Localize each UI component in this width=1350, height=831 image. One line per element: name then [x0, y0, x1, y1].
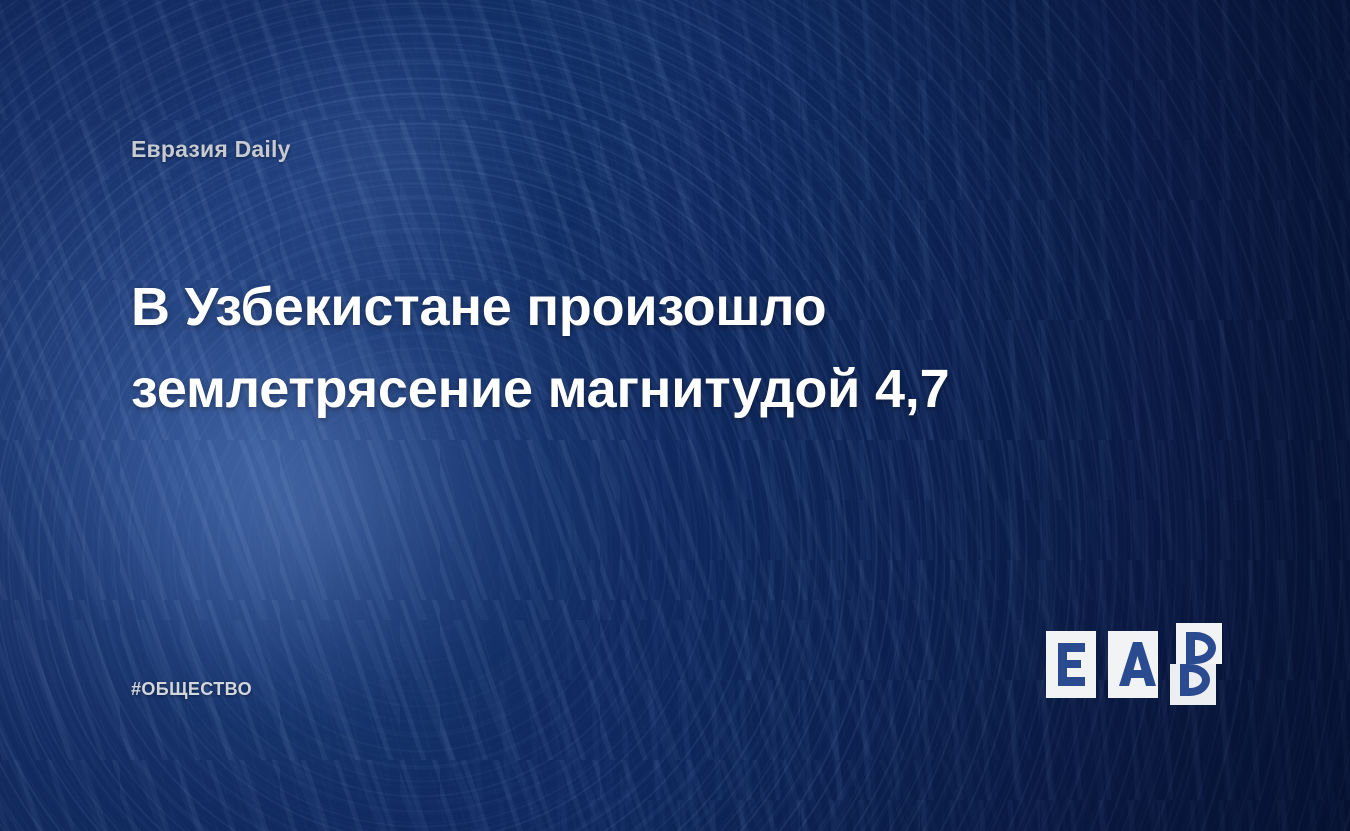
headline: В Узбекистане произошло землетрясение ма…	[131, 266, 1031, 430]
category-tag[interactable]: #ОБЩЕСТВО	[131, 679, 252, 700]
ead-logo-svg	[1046, 623, 1222, 705]
news-social-card: Евразия Daily В Узбекистане произошло зе…	[0, 0, 1350, 831]
card-content: Евразия Daily В Узбекистане произошло зе…	[0, 0, 1350, 831]
brand-wordmark[interactable]: Евразия Daily	[131, 136, 291, 163]
ead-logo[interactable]	[1046, 623, 1222, 705]
logo-glyph-e	[1058, 643, 1085, 686]
